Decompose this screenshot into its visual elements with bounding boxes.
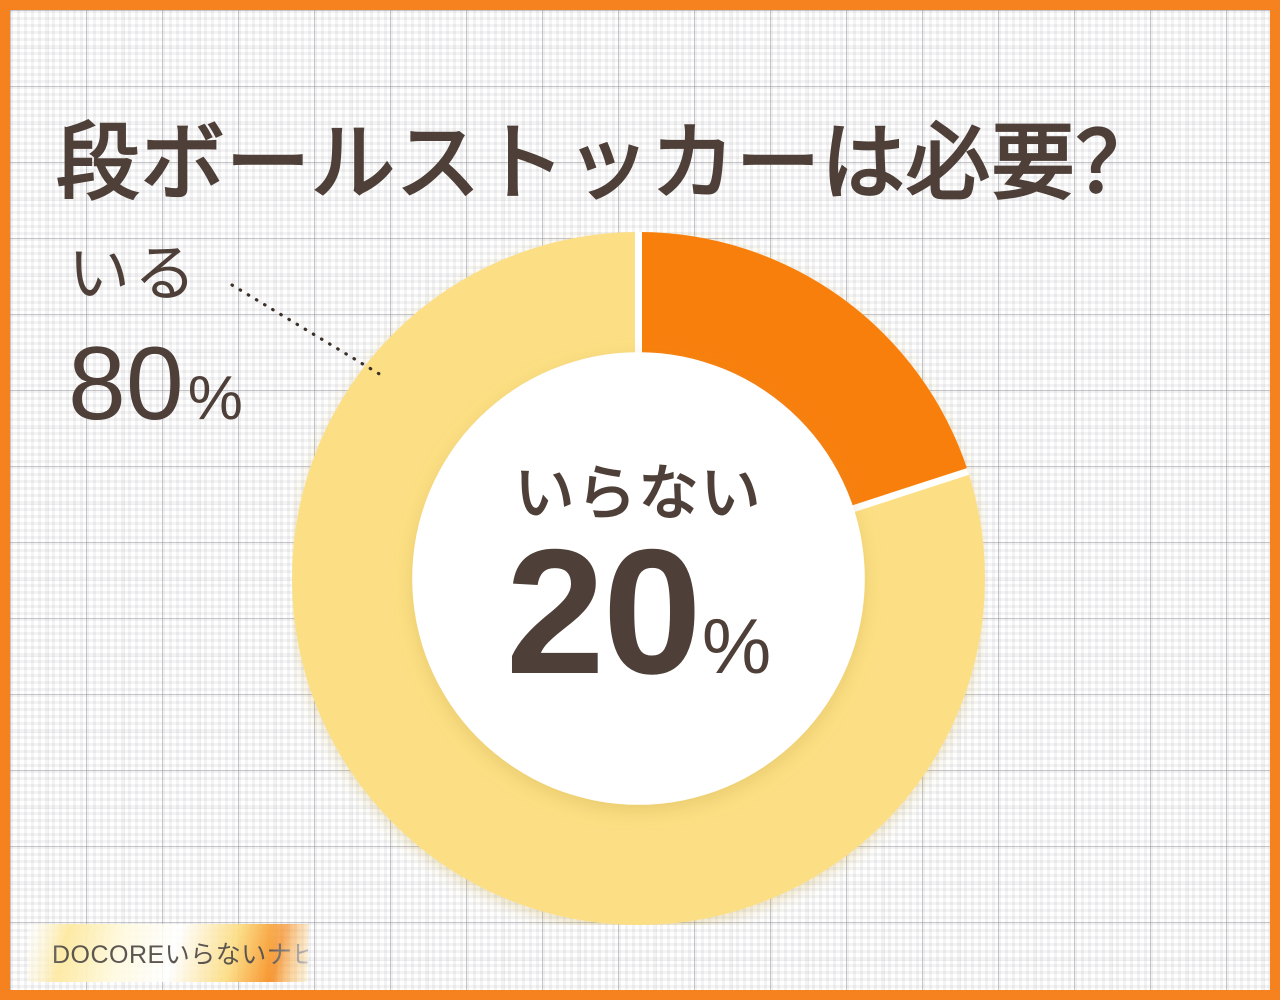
donut-hole xyxy=(412,352,865,805)
donut-chart xyxy=(292,232,985,925)
site-logo-badge[interactable]: DOCOREいらないナビ xyxy=(27,924,309,982)
outer-slice-value: 80 % xyxy=(68,332,243,436)
infographic-page: 段ボールストッカーは必要？ xyxy=(0,0,1280,1000)
outer-label-group: いる 80 % xyxy=(68,244,243,436)
outer-slice-percent-sign: % xyxy=(188,368,243,430)
page-title: 段ボールストッカーは必要？ xyxy=(56,118,1236,209)
site-logo-text: DOCOREいらないナビ xyxy=(52,935,318,971)
outer-slice-number: 80 xyxy=(68,332,184,436)
outer-slice-name: いる xyxy=(68,244,243,306)
